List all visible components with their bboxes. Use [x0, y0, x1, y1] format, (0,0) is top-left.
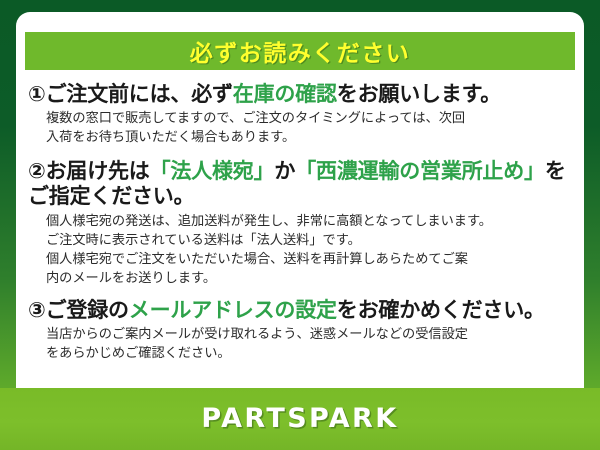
notice-item-2-body-line-2: ご注文時に表示されている送料は「法人送料」です。: [46, 231, 572, 250]
notice-item-3-body-line-1: 当店からのご案内メールが受け取れるよう、迷惑メールなどの受信設定: [46, 325, 572, 344]
notice-item-2-body-line-1: 個人様宅宛の発送は、追加送料が発生し、非常に高額となってしまいます。: [46, 212, 572, 231]
notice-panel: 必ずお読みください ①ご注文前には、必ず在庫の確認をお願いします。 複数の窓口で…: [16, 12, 584, 408]
notice-item-1-heading: ①ご注文前には、必ず在庫の確認をお願いします。: [28, 82, 572, 107]
notice-item-1-body: 複数の窓口で販売してますので、ご注文のタイミングによっては、次回 入荷をお待ち頂…: [46, 109, 572, 147]
notice-header-bar: 必ずお読みください: [25, 32, 575, 70]
notice-item-1-body-line-1: 複数の窓口で販売してますので、ご注文のタイミングによっては、次回: [46, 109, 572, 128]
notice-item-2-marker: ②: [28, 159, 46, 183]
notice-item-3-marker: ③: [28, 298, 46, 322]
notice-item-3-heading: ③ご登録のメールアドレスの設定をお確かめください。: [28, 298, 572, 323]
notice-item-3-heading-part-1: ご登録の: [46, 298, 129, 322]
notice-item-1-body-line-2: 入荷をお待ち頂いただく場合もあります。: [46, 128, 572, 147]
notice-item-1-heading-part-1: ご注文前には、必ず: [46, 82, 233, 106]
notice-item-2-body-line-4: 内のメールをお送りします。: [46, 269, 572, 288]
notice-item-2-heading-part-3: か: [274, 159, 295, 183]
notice-items-list: ①ご注文前には、必ず在庫の確認をお願いします。 複数の窓口で販売してますので、ご…: [16, 70, 584, 363]
notice-item-1-heading-highlight: 在庫の確認: [233, 82, 337, 106]
notice-item-3-heading-highlight: メールアドレスの設定: [129, 298, 337, 322]
notice-item-1: ①ご注文前には、必ず在庫の確認をお願いします。 複数の窓口で販売してますので、ご…: [28, 82, 572, 147]
notice-item-3-body-line-2: をあらかじめご確認ください。: [46, 344, 572, 363]
notice-item-3-body: 当店からのご案内メールが受け取れるよう、迷惑メールなどの受信設定 をあらかじめご…: [46, 325, 572, 363]
notice-item-2: ②お届け先は「法人様宛」か「西濃運輸の営業所止め」をご指定ください。 個人様宅宛…: [28, 159, 572, 288]
notice-item-2-heading-highlight-2: 「西濃運輸の営業所止め」: [295, 159, 545, 183]
notice-item-2-body-line-3: 個人様宅宛でご注文をいただいた場合、送料を再計算しあらためてご案: [46, 250, 572, 269]
notice-item-1-heading-part-3: をお願いします。: [337, 82, 501, 106]
notice-item-2-heading-highlight-1: 「法人様宛」: [150, 159, 275, 183]
notice-item-3: ③ご登録のメールアドレスの設定をお確かめください。 当店からのご案内メールが受け…: [28, 298, 572, 363]
notice-item-3-heading-part-3: をお確かめください。: [337, 298, 545, 322]
notice-item-1-marker: ①: [28, 82, 46, 106]
notice-card: 必ずお読みください ①ご注文前には、必ず在庫の確認をお願いします。 複数の窓口で…: [0, 0, 600, 450]
partspark-logo-text: PARTSPARK: [201, 403, 398, 436]
notice-header-title: 必ずお読みください: [190, 34, 411, 68]
notice-item-2-heading-part-1: お届け先は: [46, 159, 150, 183]
brand-footer-band: PARTSPARK: [0, 388, 600, 450]
notice-item-2-body: 個人様宅宛の発送は、追加送料が発生し、非常に高額となってしまいます。 ご注文時に…: [46, 212, 572, 288]
notice-item-2-heading: ②お届け先は「法人様宛」か「西濃運輸の営業所止め」をご指定ください。: [28, 159, 572, 210]
